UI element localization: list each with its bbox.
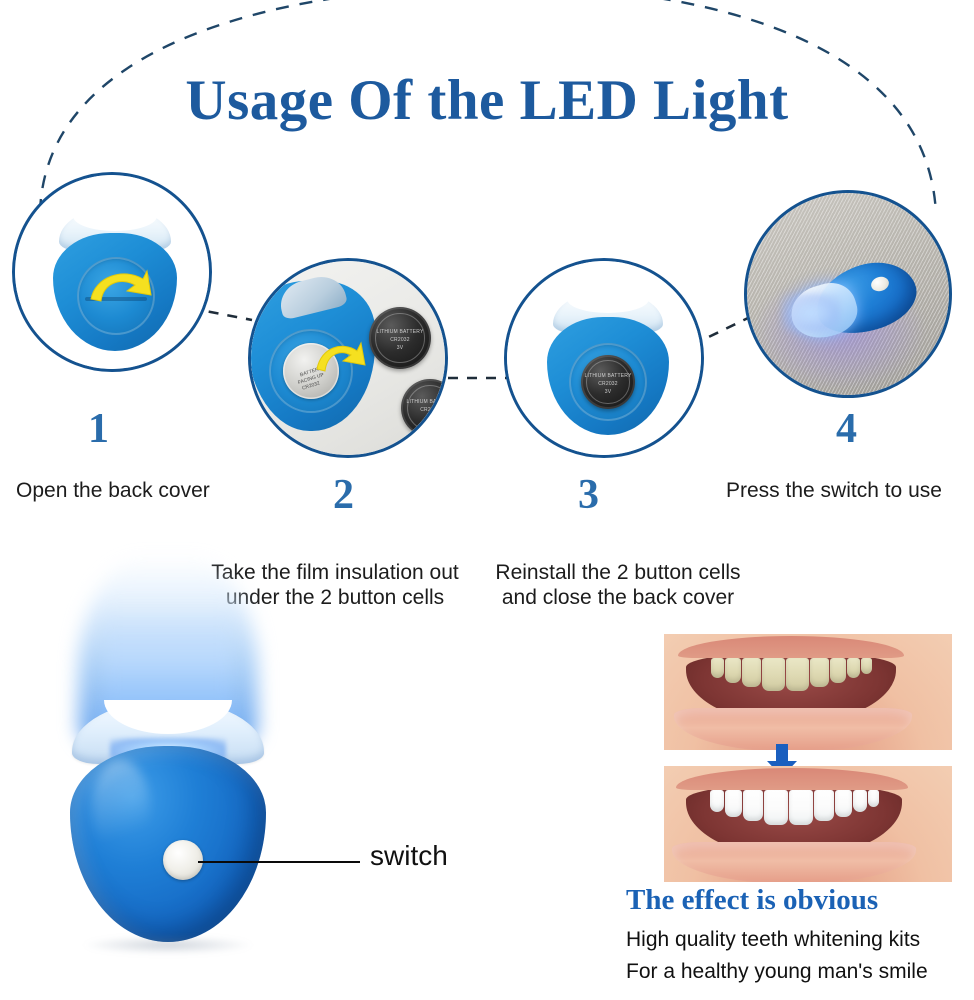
teeth-row-before xyxy=(698,658,884,698)
remove-arrow-icon xyxy=(313,335,367,377)
tooth xyxy=(743,790,763,821)
tooth xyxy=(764,790,788,825)
coin3-label-line2: CR2032 xyxy=(581,381,635,387)
tooth xyxy=(725,790,742,817)
tray-notch xyxy=(73,201,157,231)
switch-leader-line xyxy=(198,861,360,863)
step-2-image: BATTERY FACING UP CR2032 LITHIUM BATTERY… xyxy=(248,258,448,458)
step-4-caption: Press the switch to use xyxy=(726,478,974,503)
step-4-number: 4 xyxy=(836,408,857,450)
coin2-label-line1: LITHIUM BATTERY xyxy=(401,399,445,405)
tooth xyxy=(810,658,829,687)
effect-line-2: For a healthy young man's smile xyxy=(626,960,928,984)
effect-line-1: High quality teeth whitening kits xyxy=(626,928,920,952)
effect-headline: The effect is obvious xyxy=(626,884,878,917)
tooth xyxy=(762,658,785,691)
step-1-photo xyxy=(15,175,209,369)
hero-body-highlight xyxy=(92,760,150,856)
step-1-caption: Open the back cover xyxy=(16,478,276,503)
hero-switch-button[interactable] xyxy=(163,840,203,880)
switch-label: switch xyxy=(370,840,448,872)
tooth xyxy=(830,658,846,683)
page-title: Usage Of the LED Light xyxy=(0,68,974,133)
tooth xyxy=(853,790,867,812)
teeth-row-after xyxy=(696,790,892,832)
rotate-arrow-icon xyxy=(81,261,157,313)
teeth-before-photo xyxy=(664,634,952,750)
step-4-photo xyxy=(747,193,949,395)
coin3-label-line1: LITHIUM BATTERY xyxy=(581,373,635,379)
step-2-photo: BATTERY FACING UP CR2032 LITHIUM BATTERY… xyxy=(251,261,445,455)
installed-button-cell: LITHIUM BATTERY CR2032 3V xyxy=(581,355,635,409)
step-3-caption: Reinstall the 2 button cells and close t… xyxy=(494,560,742,610)
tooth xyxy=(861,658,872,674)
step-3-image: LITHIUM BATTERY CR2032 3V xyxy=(504,258,704,458)
button-cell-2: LITHIUM BATTERY CR2032 xyxy=(401,379,445,437)
tooth xyxy=(742,658,761,687)
button-cell-1: LITHIUM BATTERY CR2032 3V xyxy=(369,307,431,369)
tooth xyxy=(814,790,834,821)
tooth xyxy=(711,658,724,678)
tooth xyxy=(847,658,860,678)
coin-label-line1: LITHIUM BATTERY xyxy=(369,329,431,335)
tooth xyxy=(835,790,852,817)
teeth-after-photo xyxy=(664,766,952,882)
tooth xyxy=(868,790,879,807)
step-3-number: 3 xyxy=(578,474,599,516)
step-4-image xyxy=(744,190,952,398)
step-1-number: 1 xyxy=(88,408,109,450)
tooth xyxy=(789,790,813,825)
tooth xyxy=(786,658,809,691)
coin-label-line3: 3V xyxy=(369,345,431,351)
tooth xyxy=(725,658,741,683)
step-2-number: 2 xyxy=(333,474,354,516)
tray-notch xyxy=(567,285,649,313)
step-1-image xyxy=(12,172,212,372)
led-light-emission xyxy=(781,293,841,333)
tooth xyxy=(710,790,724,812)
coin2-label-line2: CR2032 xyxy=(401,407,445,413)
hero-drop-shadow xyxy=(84,936,252,954)
infographic-page: Usage Of the LED Light BATTERY FACING UP… xyxy=(0,0,974,1000)
coin-label-line2: CR2032 xyxy=(369,337,431,343)
coin3-label-line3: 3V xyxy=(581,389,635,395)
step-3-photo: LITHIUM BATTERY CR2032 3V xyxy=(507,261,701,455)
